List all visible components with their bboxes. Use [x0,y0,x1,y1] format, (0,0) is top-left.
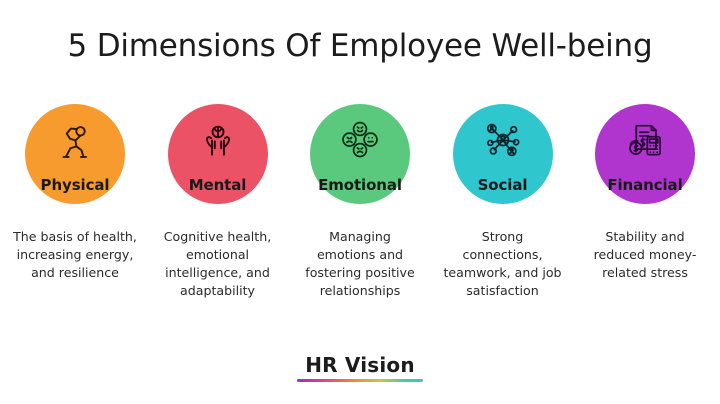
desc-line: intelligence, and [148,264,288,282]
desc-line: teamwork, and job [433,264,573,282]
dimension-description-social: Strong connections, teamwork, and job sa… [433,228,573,300]
desc-line: Cognitive health, [148,228,288,246]
desc-line: emotional [148,246,288,264]
desc-line: Managing [290,228,430,246]
desc-line: relationships [290,282,430,300]
dimension-label-financial: Financial [595,176,695,194]
desc-line: Strong [433,228,573,246]
calculator-invoice-coins-icon [623,118,667,162]
dimension-circle-social[interactable]: Social [453,104,553,204]
dimension-description-emotional: Managing emotions and fostering positive… [290,228,430,300]
desc-line: adaptability [148,282,288,300]
dimension-circle-financial[interactable]: Financial [595,104,695,204]
emotion-faces-icon [338,118,382,162]
dimensions-row: Physical The basis of health, increasing… [5,104,715,300]
desc-line: satisfaction [433,282,573,300]
brand-name: HR Vision [305,353,415,377]
dimension-circle-mental[interactable]: Mental [168,104,268,204]
desc-line: Stability and [575,228,715,246]
desc-line: related stress [575,264,715,282]
desc-line: and resilience [5,264,145,282]
dimension-label-emotional: Emotional [310,176,410,194]
desc-line: increasing energy, [5,246,145,264]
dimension-mental[interactable]: Mental Cognitive health, emotional intel… [148,104,288,300]
dimension-label-physical: Physical [25,176,125,194]
stretching-person-icon [53,118,97,162]
desc-line: connections, [433,246,573,264]
dimension-description-financial: Stability and reduced money- related str… [575,228,715,282]
infographic-slide: 5 Dimensions Of Employee Well-being Phy [0,0,720,404]
dimension-circle-physical[interactable]: Physical [25,104,125,204]
dimension-social[interactable]: Social Strong connections, teamwork, and… [433,104,573,300]
desc-line: emotions and [290,246,430,264]
brand-logo: HR Vision [0,353,720,382]
desc-line: reduced money- [575,246,715,264]
desc-line: fostering positive [290,264,430,282]
dimension-description-physical: The basis of health, increasing energy, … [5,228,145,282]
dimension-description-mental: Cognitive health, emotional intelligence… [148,228,288,300]
brain-in-hands-icon [196,118,240,162]
dimension-circle-emotional[interactable]: Emotional [310,104,410,204]
dimension-financial[interactable]: Financial Stability and reduced money- r… [575,104,715,282]
brand-gradient-rule [297,379,423,382]
desc-line: The basis of health, [5,228,145,246]
dimension-label-social: Social [453,176,553,194]
dimension-label-mental: Mental [168,176,268,194]
dimension-emotional[interactable]: Emotional Managing emotions and fosterin… [290,104,430,300]
dimension-physical[interactable]: Physical The basis of health, increasing… [5,104,145,282]
people-network-icon [481,118,525,162]
page-title: 5 Dimensions Of Employee Well-being [0,28,720,64]
